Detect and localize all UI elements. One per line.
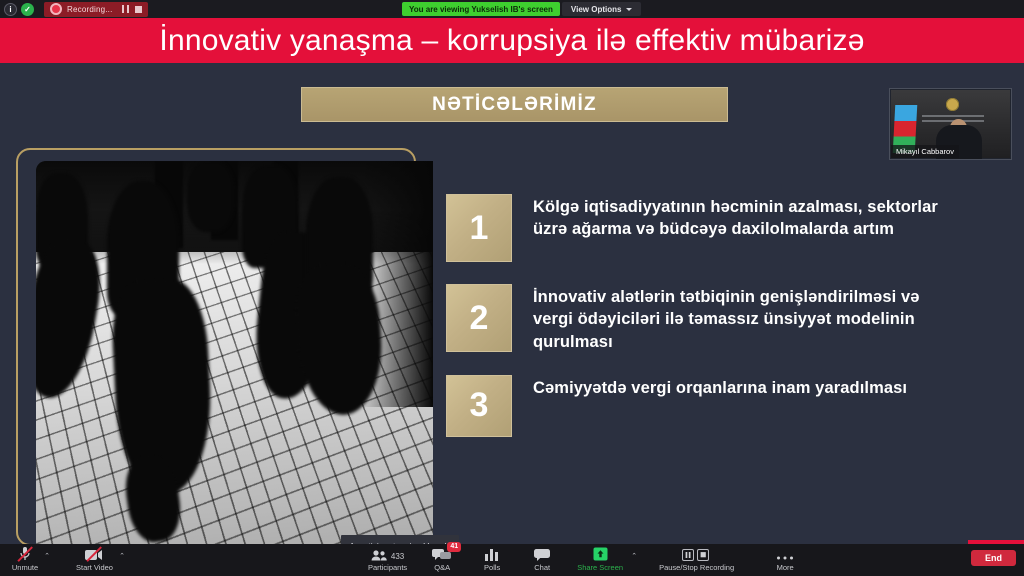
polls-label: Polls (484, 563, 500, 572)
slide-title-band: İnnovativ yanaşma – korrupsiya ilə effek… (0, 18, 1024, 63)
section-banner: NƏTİCƏLƏRİMİZ (301, 87, 728, 122)
list-item-number: 2 (446, 284, 512, 352)
slide-photo (36, 161, 433, 544)
more-button[interactable]: More (770, 546, 800, 572)
section-banner-label: NƏTİCƏLƏRİMİZ (432, 94, 597, 116)
zoom-top-bar: i ✓ Recording... You are viewing Yukseli… (0, 0, 1024, 18)
share-screen-button[interactable]: Share Screen ⌃ (577, 546, 623, 572)
qa-button[interactable]: 41 Q&A (427, 546, 457, 572)
start-video-label: Start Video (76, 563, 113, 572)
qa-label: Q&A (434, 563, 450, 572)
unmute-button[interactable]: Unmute ⌃ (10, 546, 40, 572)
stop-icon[interactable] (135, 6, 142, 13)
shadow-figure (187, 161, 235, 232)
participants-count: 433 (391, 552, 404, 561)
list-item-text: Cəmiyyətdə vergi orqanlarına inam yaradı… (533, 375, 907, 399)
list-item: 3 Cəmiyyətdə vergi orqanlarına inam yara… (446, 375, 946, 437)
polls-icon (485, 546, 499, 561)
screen-share-notice-group: You are viewing Yukselish IB's screen Vi… (402, 0, 641, 18)
share-screen-icon (593, 546, 608, 561)
page-title: İnnovativ yanaşma – korrupsiya ilə effek… (159, 24, 864, 58)
list-item-text: Kölgə iqtisadiyyatının həcminin azalması… (533, 194, 946, 241)
view-options-button[interactable]: View Options (562, 2, 642, 16)
speaker-name-label: Mikayıl Cabbarov (891, 145, 959, 158)
participants-icon: 433 (371, 546, 404, 561)
recording-indicator[interactable]: Recording... (44, 2, 148, 17)
view-options-label: View Options (571, 5, 622, 14)
start-video-button[interactable]: Start Video ⌃ (76, 546, 113, 572)
more-ellipsis-icon (776, 546, 794, 561)
chevron-up-icon[interactable]: ⌃ (119, 552, 125, 560)
chat-icon (534, 546, 550, 561)
end-meeting-button[interactable]: End (971, 550, 1016, 566)
pause-stop-recording-icon (682, 546, 712, 561)
raised-hand-notice: 4 participants raised hand (341, 535, 459, 544)
unmute-label: Unmute (12, 563, 38, 572)
shared-slide: İnnovativ yanaşma – korrupsiya ilə effek… (0, 18, 1024, 544)
chat-label: Chat (534, 563, 550, 572)
qa-icon: 41 (432, 546, 452, 561)
record-dot-icon (50, 3, 62, 15)
zoom-bottom-toolbar: Unmute ⌃ Start Video ⌃ 433 Participants … (0, 544, 1024, 576)
top-bar-left-controls: i ✓ Recording... (0, 2, 148, 17)
pause-icon[interactable] (122, 5, 129, 13)
participants-label: Participants (368, 563, 407, 572)
speaker-video-thumbnail[interactable]: Mikayıl Cabbarov (889, 88, 1012, 160)
list-item: 2 İnnovativ alətlərin tətbiqinin genişlə… (446, 284, 946, 353)
security-shield-icon[interactable]: ✓ (21, 3, 34, 16)
recording-label: Recording... (67, 5, 113, 14)
qa-badge: 41 (447, 542, 461, 552)
share-screen-label: Share Screen (577, 563, 623, 572)
info-icon[interactable]: i (4, 3, 17, 16)
chat-button[interactable]: Chat (527, 546, 557, 572)
chevron-down-icon (626, 8, 632, 11)
microphone-muted-icon (19, 546, 31, 561)
chevron-up-icon[interactable]: ⌃ (44, 552, 50, 560)
pause-stop-recording-button[interactable]: Pause/Stop Recording (659, 546, 734, 572)
participants-button[interactable]: 433 Participants (368, 546, 407, 572)
more-label: More (777, 563, 794, 572)
results-list: 1 Kölgə iqtisadiyyatının həcminin azalma… (446, 194, 946, 459)
list-item: 1 Kölgə iqtisadiyyatının həcminin azalma… (446, 194, 946, 262)
polls-button[interactable]: Polls (477, 546, 507, 572)
ministry-emblem-icon (946, 98, 959, 111)
list-item-number: 3 (446, 375, 512, 437)
list-item-number: 1 (446, 194, 512, 262)
video-camera-off-icon (85, 546, 103, 561)
chevron-up-icon[interactable]: ⌃ (631, 552, 637, 560)
viewing-screen-notice: You are viewing Yukselish IB's screen (402, 2, 560, 16)
pause-stop-recording-label: Pause/Stop Recording (659, 563, 734, 572)
list-item-text: İnnovativ alətlərin tətbiqinin genişlənd… (533, 284, 946, 353)
